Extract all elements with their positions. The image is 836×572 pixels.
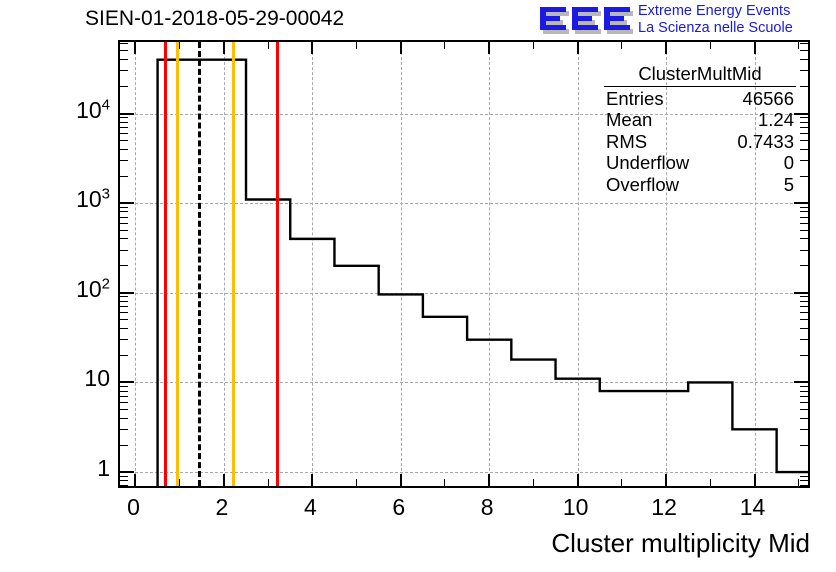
y-tick-minor-right	[800, 250, 808, 251]
y-tick-right	[794, 113, 808, 115]
x-tick	[710, 479, 711, 486]
y-tick-minor-right	[800, 207, 808, 208]
y-tick-minor	[120, 160, 128, 161]
y-tick-minor-right	[800, 485, 808, 486]
y-tick-minor-right	[800, 122, 808, 123]
y-tick-minor	[120, 223, 128, 224]
y-tick-minor	[120, 402, 128, 403]
y-tick-minor	[120, 230, 128, 231]
x-tick	[621, 479, 622, 486]
y-tick-minor-right	[800, 86, 808, 87]
y-tick-minor-right	[800, 238, 808, 239]
y-tick-minor	[120, 301, 128, 302]
plot-canvas: SIEN-01-2018-05-29-00042 Extreme Energy …	[0, 0, 836, 572]
x-tick-top	[533, 42, 534, 49]
y-tick-minor	[120, 476, 128, 477]
y-tick	[120, 292, 134, 294]
y-tick-minor	[120, 319, 128, 320]
x-tick-top	[621, 42, 622, 49]
stats-row-key: RMS	[606, 131, 647, 153]
y-tick-minor	[120, 296, 128, 297]
y-tick-label: 1	[97, 455, 110, 482]
y-tick-minor	[120, 70, 128, 71]
y-tick-minor	[120, 250, 128, 251]
eee-logo-line1: Extreme Energy Events	[638, 3, 834, 20]
y-tick-minor-right	[800, 386, 808, 387]
y-tick-minor	[120, 355, 128, 356]
stats-row-key: Underflow	[606, 152, 689, 174]
y-tick-minor-right	[800, 127, 808, 128]
y-tick-minor-right	[800, 211, 808, 212]
y-tick-minor	[120, 211, 128, 212]
x-tick	[488, 474, 490, 486]
x-tick-label: 10	[563, 494, 589, 521]
x-tick	[268, 479, 269, 486]
marker-line-orange-left	[176, 42, 179, 486]
stats-row-key: Overflow	[606, 174, 679, 196]
y-tick-minor	[120, 409, 128, 410]
stats-row: Entries46566	[604, 88, 796, 110]
y-tick-minor	[120, 86, 128, 87]
stats-row-value: 46566	[743, 88, 794, 110]
y-tick-minor-right	[800, 418, 808, 419]
y-tick-minor	[120, 396, 128, 397]
x-tick-top	[356, 42, 357, 49]
x-tick-top	[444, 42, 445, 49]
y-tick-minor	[120, 418, 128, 419]
eee-logo-text: Extreme Energy Events La Scienza nelle S…	[638, 3, 834, 39]
y-tick-minor	[120, 117, 128, 118]
x-tick-label: 2	[216, 494, 229, 521]
x-tick	[754, 474, 756, 486]
x-tick-top	[400, 42, 402, 54]
y-tick-label: 102	[76, 276, 110, 303]
y-tick-minor-right	[800, 409, 808, 410]
y-tick-minor-right	[800, 339, 808, 340]
x-tick-top	[665, 42, 667, 54]
y-tick-label: 10	[84, 365, 110, 392]
y-tick-minor-right	[800, 140, 808, 141]
marker-line-red-right	[276, 42, 279, 486]
stats-rows: Entries46566Mean1.24RMS0.7433Underflow0O…	[604, 88, 796, 196]
y-tick-minor-right	[800, 59, 808, 60]
y-tick	[120, 471, 134, 473]
x-tick-top	[488, 42, 490, 54]
x-tick-top	[577, 42, 579, 54]
y-tick-minor	[120, 122, 128, 123]
page-title: SIEN-01-2018-05-29-00042	[85, 7, 344, 31]
x-tick-top	[710, 42, 711, 49]
y-tick-minor	[120, 133, 128, 134]
y-tick-minor-right	[800, 217, 808, 218]
y-tick-minor-right	[800, 117, 808, 118]
stats-row-key: Entries	[606, 88, 664, 110]
x-axis-title: Cluster multiplicity Mid	[551, 528, 810, 559]
y-tick-minor-right	[800, 160, 808, 161]
y-tick-minor	[120, 445, 128, 446]
y-tick-minor-right	[800, 480, 808, 481]
y-tick-right	[794, 381, 808, 383]
eee-mark-icon	[538, 4, 634, 38]
y-tick-minor	[120, 207, 128, 208]
x-tick	[311, 474, 313, 486]
y-tick-minor	[120, 127, 128, 128]
x-tick-top	[268, 42, 269, 49]
y-tick-minor-right	[800, 402, 808, 403]
x-tick-top	[179, 42, 180, 49]
x-tick	[134, 474, 136, 486]
marker-line-red-left	[164, 42, 167, 486]
x-tick-label: 4	[304, 494, 317, 521]
y-tick-minor-right	[800, 355, 808, 356]
x-tick	[356, 479, 357, 486]
stats-row-value: 5	[784, 174, 794, 196]
y-tick-minor	[120, 176, 128, 177]
x-tick-top	[754, 42, 756, 54]
x-tick-label: 6	[392, 494, 405, 521]
y-tick-minor	[120, 50, 128, 51]
y-tick-minor-right	[800, 312, 808, 313]
stats-row: Mean1.24	[604, 109, 796, 131]
x-tick	[179, 479, 180, 486]
x-tick-label: 8	[481, 494, 494, 521]
stats-box: ClusterMultMid Entries46566Mean1.24RMS0.…	[604, 63, 796, 195]
y-tick-minor	[120, 149, 128, 150]
y-tick-minor	[120, 386, 128, 387]
y-tick-minor-right	[800, 306, 808, 307]
y-tick-minor-right	[800, 301, 808, 302]
y-tick-minor-right	[800, 265, 808, 266]
x-tick	[444, 479, 445, 486]
stats-row: RMS0.7433	[604, 131, 796, 153]
y-tick-minor-right	[800, 296, 808, 297]
y-tick-minor	[120, 339, 128, 340]
y-tick	[120, 381, 134, 383]
y-tick-minor	[120, 480, 128, 481]
y-tick	[120, 202, 134, 204]
y-tick-minor-right	[800, 70, 808, 71]
x-tick-label: 12	[651, 494, 677, 521]
y-tick-minor-right	[800, 328, 808, 329]
y-tick-minor-right	[800, 396, 808, 397]
y-tick-minor	[120, 429, 128, 430]
y-tick-right	[794, 292, 808, 294]
stats-row: Underflow0	[604, 152, 796, 174]
stats-row-key: Mean	[606, 109, 652, 131]
y-tick-minor	[120, 328, 128, 329]
x-tick	[577, 474, 579, 486]
x-tick	[533, 479, 534, 486]
y-tick-minor	[120, 391, 128, 392]
y-tick-minor	[120, 140, 128, 141]
x-tick-top	[311, 42, 313, 54]
stats-box-title: ClusterMultMid	[604, 63, 796, 87]
y-tick-minor-right	[800, 43, 808, 44]
y-tick-minor	[120, 238, 128, 239]
eee-logo-line2: La Scienza nelle Scuole	[638, 20, 834, 37]
x-tick-top	[134, 42, 136, 54]
stats-row: Overflow5	[604, 174, 796, 196]
y-tick-minor	[120, 485, 128, 486]
marker-line-orange-right	[232, 42, 235, 486]
y-tick-minor-right	[800, 319, 808, 320]
y-tick-minor	[120, 312, 128, 313]
y-tick	[120, 113, 134, 115]
stats-row-value: 0.7433	[737, 131, 794, 153]
y-tick-minor	[120, 306, 128, 307]
y-tick-minor	[120, 59, 128, 60]
y-tick-minor-right	[800, 50, 808, 51]
x-tick	[665, 474, 667, 486]
y-tick-minor-right	[800, 176, 808, 177]
x-tick-top	[223, 42, 225, 54]
x-tick-label: 14	[740, 494, 766, 521]
x-tick-label: 0	[127, 494, 140, 521]
y-tick-minor-right	[800, 476, 808, 477]
y-tick-label: 104	[76, 97, 110, 124]
y-tick-minor-right	[800, 149, 808, 150]
marker-line-black-dashed	[198, 42, 201, 486]
eee-logo: Extreme Energy Events La Scienza nelle S…	[538, 3, 830, 39]
y-tick-minor-right	[800, 133, 808, 134]
y-tick-minor	[120, 265, 128, 266]
stats-row-value: 0	[784, 152, 794, 174]
y-tick-right	[794, 471, 808, 473]
x-tick	[400, 474, 402, 486]
y-tick-minor-right	[800, 223, 808, 224]
y-tick-minor-right	[800, 391, 808, 392]
y-tick-minor	[120, 43, 128, 44]
y-tick-label: 103	[76, 186, 110, 213]
y-tick-minor-right	[800, 429, 808, 430]
y-tick-minor	[120, 217, 128, 218]
y-tick-right	[794, 202, 808, 204]
stats-row-value: 1.24	[758, 109, 794, 131]
y-tick-minor-right	[800, 445, 808, 446]
x-tick	[223, 474, 225, 486]
y-tick-minor-right	[800, 230, 808, 231]
